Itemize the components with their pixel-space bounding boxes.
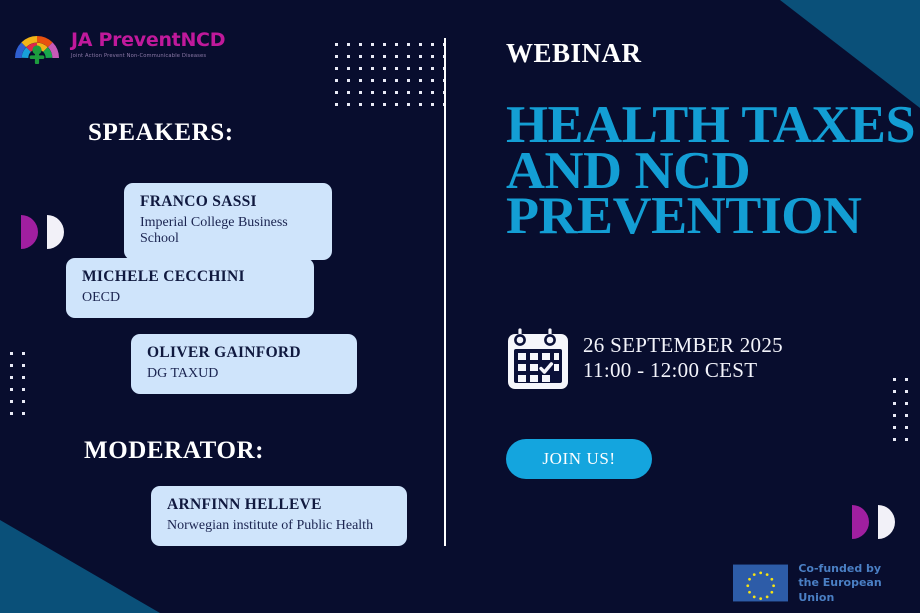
brand-title: JA PreventNCD bbox=[71, 31, 225, 50]
webinar-poster: JA PreventNCD Joint Action Prevent Non-C… bbox=[0, 0, 920, 613]
half-circle-white-icon bbox=[47, 215, 64, 249]
event-time: 11:00 - 12:00 CEST bbox=[583, 358, 783, 383]
moderator-org: Norwegian institute of Public Health bbox=[167, 518, 391, 535]
speaker-card: FRANCO SASSI Imperial College Business S… bbox=[124, 183, 332, 260]
moderator-heading: MODERATOR: bbox=[84, 437, 264, 465]
eu-funding-badge: Co-funded by the European Union bbox=[733, 562, 920, 605]
dot-grid-left bbox=[10, 352, 25, 415]
speaker-name: OLIVER GAINFORD bbox=[147, 344, 341, 363]
moderator-card: ARNFINN HELLEVE Norwegian institute of P… bbox=[151, 486, 407, 546]
speaker-org: OECD bbox=[82, 290, 298, 307]
speaker-name: MICHELE CECCHINI bbox=[82, 268, 298, 287]
speaker-org: Imperial College Business School bbox=[140, 215, 316, 249]
join-us-button[interactable]: JOIN US! bbox=[506, 439, 652, 479]
brand-logo: JA PreventNCD Joint Action Prevent Non-C… bbox=[12, 24, 225, 66]
eu-flag-icon bbox=[733, 564, 788, 602]
speaker-card: OLIVER GAINFORD DG TAXUD bbox=[131, 334, 357, 394]
vertical-divider bbox=[444, 38, 446, 546]
headline-line-3: PREVENTION bbox=[506, 194, 915, 240]
calendar-check-icon bbox=[506, 325, 570, 391]
half-circle-purple-icon bbox=[852, 505, 869, 539]
funding-line-1: Co-funded by bbox=[798, 562, 920, 576]
corner-triangle-bottom-left bbox=[0, 520, 160, 613]
speaker-name: FRANCO SASSI bbox=[140, 193, 316, 212]
moderator-name: ARNFINN HELLEVE bbox=[167, 496, 391, 515]
speaker-card: MICHELE CECCHINI OECD bbox=[66, 258, 314, 318]
speaker-org: DG TAXUD bbox=[147, 366, 341, 383]
dot-grid-right bbox=[893, 378, 908, 441]
event-datetime: 26 SEPTEMBER 2025 11:00 - 12:00 CEST bbox=[506, 325, 783, 391]
corner-triangle-top-right bbox=[780, 0, 920, 108]
ja-preventncd-arc-logo-icon bbox=[12, 24, 62, 66]
dot-grid-top bbox=[335, 43, 446, 106]
webinar-kicker: WEBINAR bbox=[506, 38, 642, 69]
funding-line-2: the European Union bbox=[798, 576, 920, 605]
speakers-heading: SPEAKERS: bbox=[88, 119, 234, 147]
half-circle-decor-left bbox=[21, 215, 64, 249]
half-circle-purple-icon bbox=[21, 215, 38, 249]
half-circle-white-icon bbox=[878, 505, 895, 539]
page-title: HEALTH TAXES AND NCD PREVENTION bbox=[506, 103, 915, 240]
event-date: 26 SEPTEMBER 2025 bbox=[583, 333, 783, 358]
half-circle-decor-right bbox=[852, 505, 895, 539]
brand-tagline: Joint Action Prevent Non-Communicable Di… bbox=[71, 54, 225, 59]
